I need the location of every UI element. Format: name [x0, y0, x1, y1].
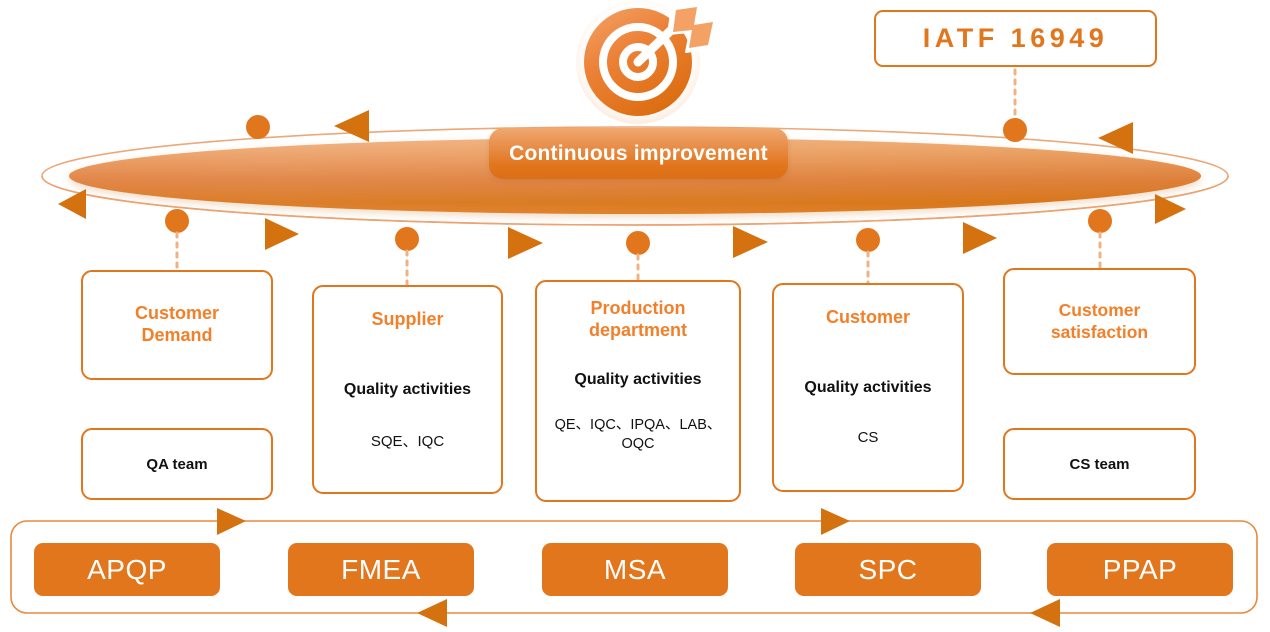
track-marker-dot-4: [395, 227, 419, 251]
core-tool-chip-spc[interactable]: SPC: [795, 543, 981, 596]
track-marker-arrow-right-3: [733, 226, 768, 258]
target-arrow-icon: [576, 0, 718, 124]
track-marker-dot-6: [856, 228, 880, 252]
core-tool-label: PPAP: [1103, 554, 1178, 586]
track-marker-dot-1: [246, 115, 270, 139]
stage-detail: CS: [858, 428, 879, 448]
track-marker-dot-5: [626, 231, 650, 255]
track-marker-arrow-right-2: [508, 227, 543, 259]
core-tool-label: APQP: [87, 554, 167, 586]
stage-title-line1: Customer: [1059, 300, 1141, 320]
track-marker-arrow-right-1: [265, 218, 299, 250]
core-tool-chip-apqp[interactable]: APQP: [34, 543, 220, 596]
track-marker-dot-2: [1003, 118, 1027, 142]
stage-title-line1: Supplier: [371, 309, 443, 329]
team-box-cs: CS team: [1003, 428, 1196, 500]
track-marker-arrow-left-3: [58, 189, 86, 219]
track-marker-arrow-left-2: [1098, 122, 1133, 154]
stage-subtitle: Quality activities: [344, 381, 471, 399]
track-marker-dot-3: [165, 209, 189, 233]
stage-title-line1: Production: [590, 298, 685, 318]
stage-detail: SQE、IQC: [371, 432, 444, 452]
stage-title-line2: department: [589, 320, 687, 340]
core-tool-label: FMEA: [341, 554, 421, 586]
iatf-standard-label: IATF 16949: [923, 23, 1109, 54]
stage-title-line2: Demand: [141, 325, 212, 345]
core-tool-chip-fmea[interactable]: FMEA: [288, 543, 474, 596]
continuous-improvement-pill: Continuous improvement: [489, 128, 788, 179]
stage-detail: QE、IQC、IPQA、LAB、OQC: [545, 416, 731, 454]
core-tool-label: SPC: [858, 554, 917, 586]
track-marker-arrow-left-1: [334, 110, 369, 142]
track-marker-dot-7: [1088, 209, 1112, 233]
core-tool-label: MSA: [604, 554, 666, 586]
continuous-improvement-label: Continuous improvement: [509, 142, 768, 166]
flow-arrow-feedback-1: [417, 599, 447, 627]
flow-arrow-forward-2: [821, 508, 850, 535]
team-box-label: QA team: [146, 456, 207, 473]
flow-arrow-forward-1: [217, 508, 246, 535]
stage-card-customer: Customer Quality activities CS: [772, 283, 964, 492]
team-box-qa: QA team: [81, 428, 273, 500]
iatf-standard-badge: IATF 16949: [874, 10, 1157, 67]
flow-arrow-feedback-2: [1030, 599, 1060, 627]
core-tool-chip-ppap[interactable]: PPAP: [1047, 543, 1233, 596]
stage-title-line1: Customer: [826, 307, 910, 327]
track-marker-arrow-right-5: [963, 222, 997, 254]
stage-card-customer-demand: Customer Demand: [81, 270, 273, 380]
core-tool-chip-msa[interactable]: MSA: [542, 543, 728, 596]
track-marker-arrow-right-4: [1155, 194, 1186, 224]
stage-subtitle: Quality activities: [574, 371, 701, 389]
stage-card-production-department: Production department Quality activities…: [535, 280, 741, 502]
stage-card-customer-satisfaction: Customer satisfaction: [1003, 268, 1196, 375]
diagram-canvas: IATF 16949 Continuous improvement Custom…: [0, 0, 1270, 632]
stage-card-supplier: Supplier Quality activities SQE、IQC: [312, 285, 503, 494]
team-box-label: CS team: [1069, 456, 1129, 473]
stage-title-line2: satisfaction: [1051, 322, 1148, 342]
stage-subtitle: Quality activities: [804, 379, 931, 397]
stage-title-line1: Customer: [135, 303, 219, 323]
